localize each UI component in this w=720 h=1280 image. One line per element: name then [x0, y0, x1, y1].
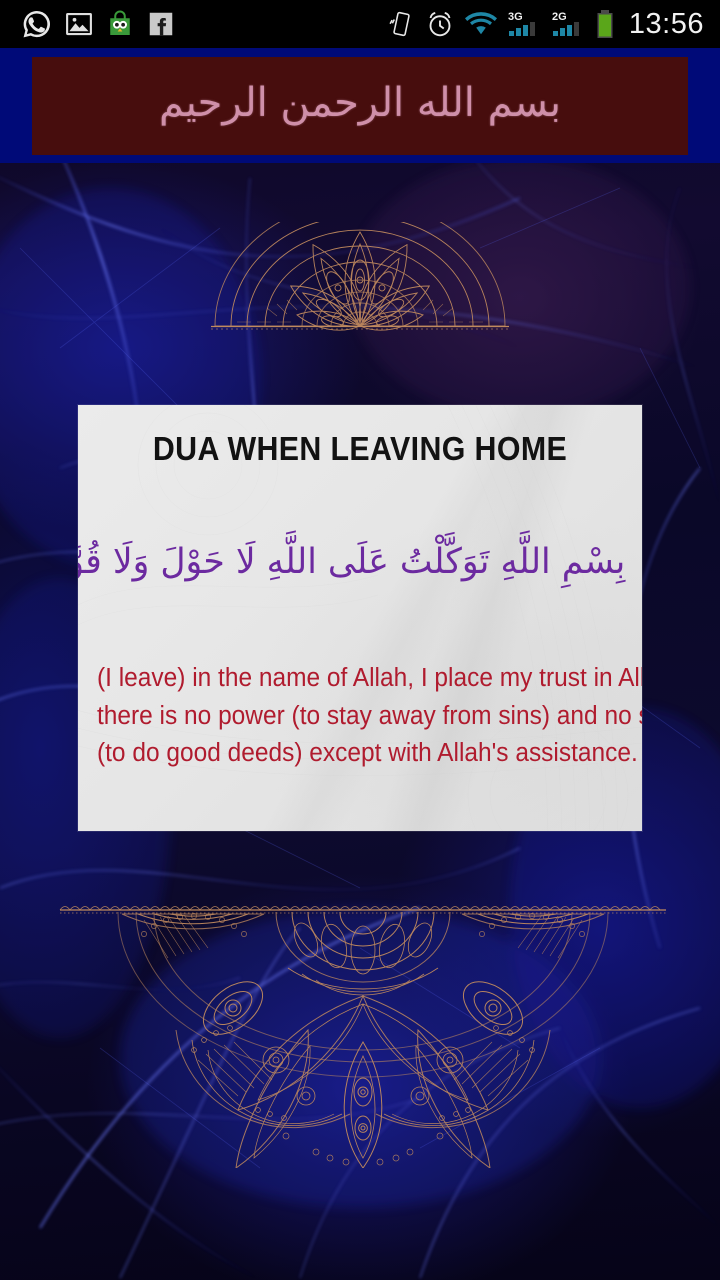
- status-bar[interactable]: 3G 2G 13:56: [0, 0, 720, 48]
- wifi-icon: [465, 11, 497, 37]
- dua-translation-line-2: there is no power (to stay away from sin…: [97, 698, 623, 736]
- dua-card[interactable]: DUA WHEN LEAVING HOME بِسْمِ اللَّهِ تَو…: [78, 405, 642, 831]
- status-bar-system-icons: 3G 2G 13:56: [388, 8, 720, 41]
- status-bar-clock: 13:56: [629, 8, 704, 41]
- facebook-icon: [146, 9, 176, 39]
- signal-2g-icon: 2G: [551, 9, 585, 39]
- svg-text:3G: 3G: [508, 11, 523, 23]
- bismillah-banner-inner: بسم الله الرحمن الرحيم: [32, 57, 688, 155]
- dua-translation-line-3: (to do good deeds) except with Allah's a…: [97, 735, 623, 773]
- gallery-image-icon: [64, 9, 94, 39]
- dua-title: DUA WHEN LEAVING HOME: [101, 430, 620, 468]
- whatsapp-icon: [20, 8, 53, 41]
- bismillah-arabic-text: بسم الله الرحمن الرحيم: [159, 83, 561, 129]
- signal-3g-icon: 3G: [507, 9, 541, 39]
- dua-translation-text: (I leave) in the name of Allah, I place …: [97, 660, 623, 773]
- battery-icon: [595, 8, 615, 40]
- alarm-clock-icon: [425, 9, 455, 39]
- svg-text:2G: 2G: [552, 11, 567, 23]
- bismillah-banner: بسم الله الرحمن الرحيم: [0, 48, 720, 163]
- dua-arabic-text: بِسْمِ اللَّهِ تَوَكَّلْتُ عَلَى اللَّهِ…: [95, 537, 626, 588]
- dua-translation-line-1: (I leave) in the name of Allah, I place …: [97, 660, 623, 698]
- status-bar-notification-icons: [0, 8, 176, 41]
- tokopedia-icon: [105, 9, 135, 39]
- vibrate-icon: [388, 9, 415, 39]
